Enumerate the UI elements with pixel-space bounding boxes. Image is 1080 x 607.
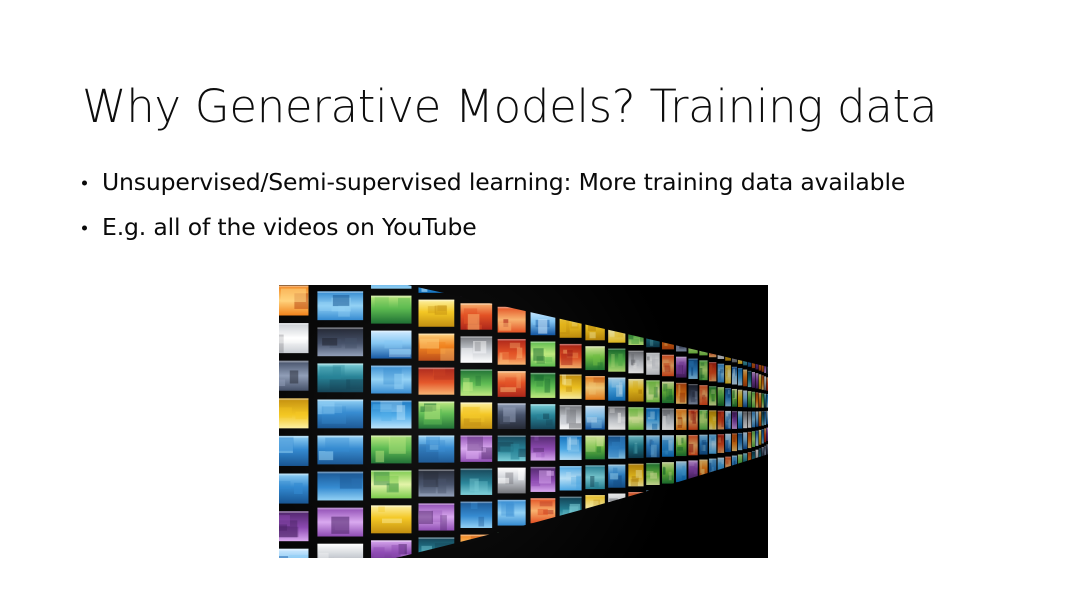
bullet-marker-icon [82, 225, 87, 230]
list-item-label: E.g. all of the videos on YouTube [102, 213, 477, 241]
video-wall-canvas [279, 285, 768, 558]
list-item-label: Unsupervised/Semi-supervised learning: M… [102, 168, 905, 196]
bullet-marker-icon [82, 180, 87, 185]
bullet-list: Unsupervised/Semi-supervised learning: M… [80, 160, 1040, 250]
video-wall-image [279, 285, 768, 558]
page-title: Why Generative Models? Training data [82, 82, 1022, 132]
list-item: E.g. all of the videos on YouTube [80, 205, 1040, 250]
list-item: Unsupervised/Semi-supervised learning: M… [80, 160, 1040, 205]
slide: Why Generative Models? Training data Uns… [0, 0, 1080, 607]
